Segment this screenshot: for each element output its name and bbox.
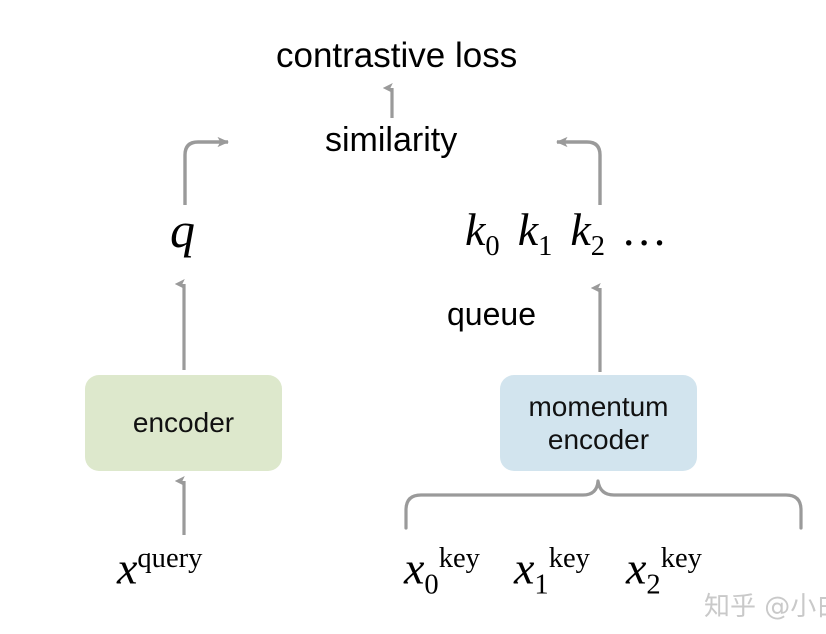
input-key-0-base: x	[404, 542, 424, 593]
momentum-encoder-box-label-line1: momentum	[528, 390, 668, 423]
brace-key-inputs	[406, 481, 801, 528]
query-representation-symbol: q	[170, 205, 195, 255]
arrow-q-to-similarity	[185, 142, 228, 205]
watermark: 知乎 @小白	[704, 586, 826, 623]
similarity-label: similarity	[325, 123, 457, 157]
input-key-0-superscript: key	[439, 543, 480, 574]
input-key-2-superscript: key	[661, 543, 702, 574]
key-symbol-2-index: 2	[591, 231, 605, 262]
contrastive-loss-label: contrastive loss	[276, 38, 517, 73]
encoder-box[interactable]: encoder	[85, 375, 282, 471]
keys-ellipsis: …	[621, 204, 667, 255]
key-symbols-group: k0k1k2…	[465, 207, 667, 262]
diagram-canvas: contrastive loss similarity queue q k0k1…	[0, 0, 826, 634]
key-symbol-0-index: 0	[485, 231, 499, 262]
input-key-0-index: 0	[424, 570, 438, 601]
arrow-keys-to-similarity	[557, 142, 600, 205]
input-query-symbol: xquery	[117, 545, 202, 591]
input-key-symbol-1: x1key	[514, 545, 590, 600]
momentum-encoder-box-label-line2: encoder	[528, 423, 668, 456]
encoder-box-label: encoder	[133, 406, 234, 439]
key-symbol-1-base: k	[518, 204, 538, 255]
input-key-symbol-0: x0key	[404, 545, 480, 600]
key-symbol-2-base: k	[570, 204, 590, 255]
input-key-2-base: x	[626, 542, 646, 593]
input-key-1-superscript: key	[549, 543, 590, 574]
key-symbol-0-base: k	[465, 204, 485, 255]
input-key-symbol-2: x2key	[626, 545, 702, 600]
input-query-base: x	[117, 542, 137, 593]
input-key-1-base: x	[514, 542, 534, 593]
input-query-superscript: query	[137, 543, 202, 574]
queue-label: queue	[447, 298, 536, 330]
key-symbol-1-index: 1	[538, 231, 552, 262]
diagram-connectors	[0, 0, 826, 634]
input-key-2-index: 2	[646, 570, 660, 601]
input-key-1-index: 1	[534, 570, 548, 601]
momentum-encoder-box[interactable]: momentum encoder	[500, 375, 697, 471]
